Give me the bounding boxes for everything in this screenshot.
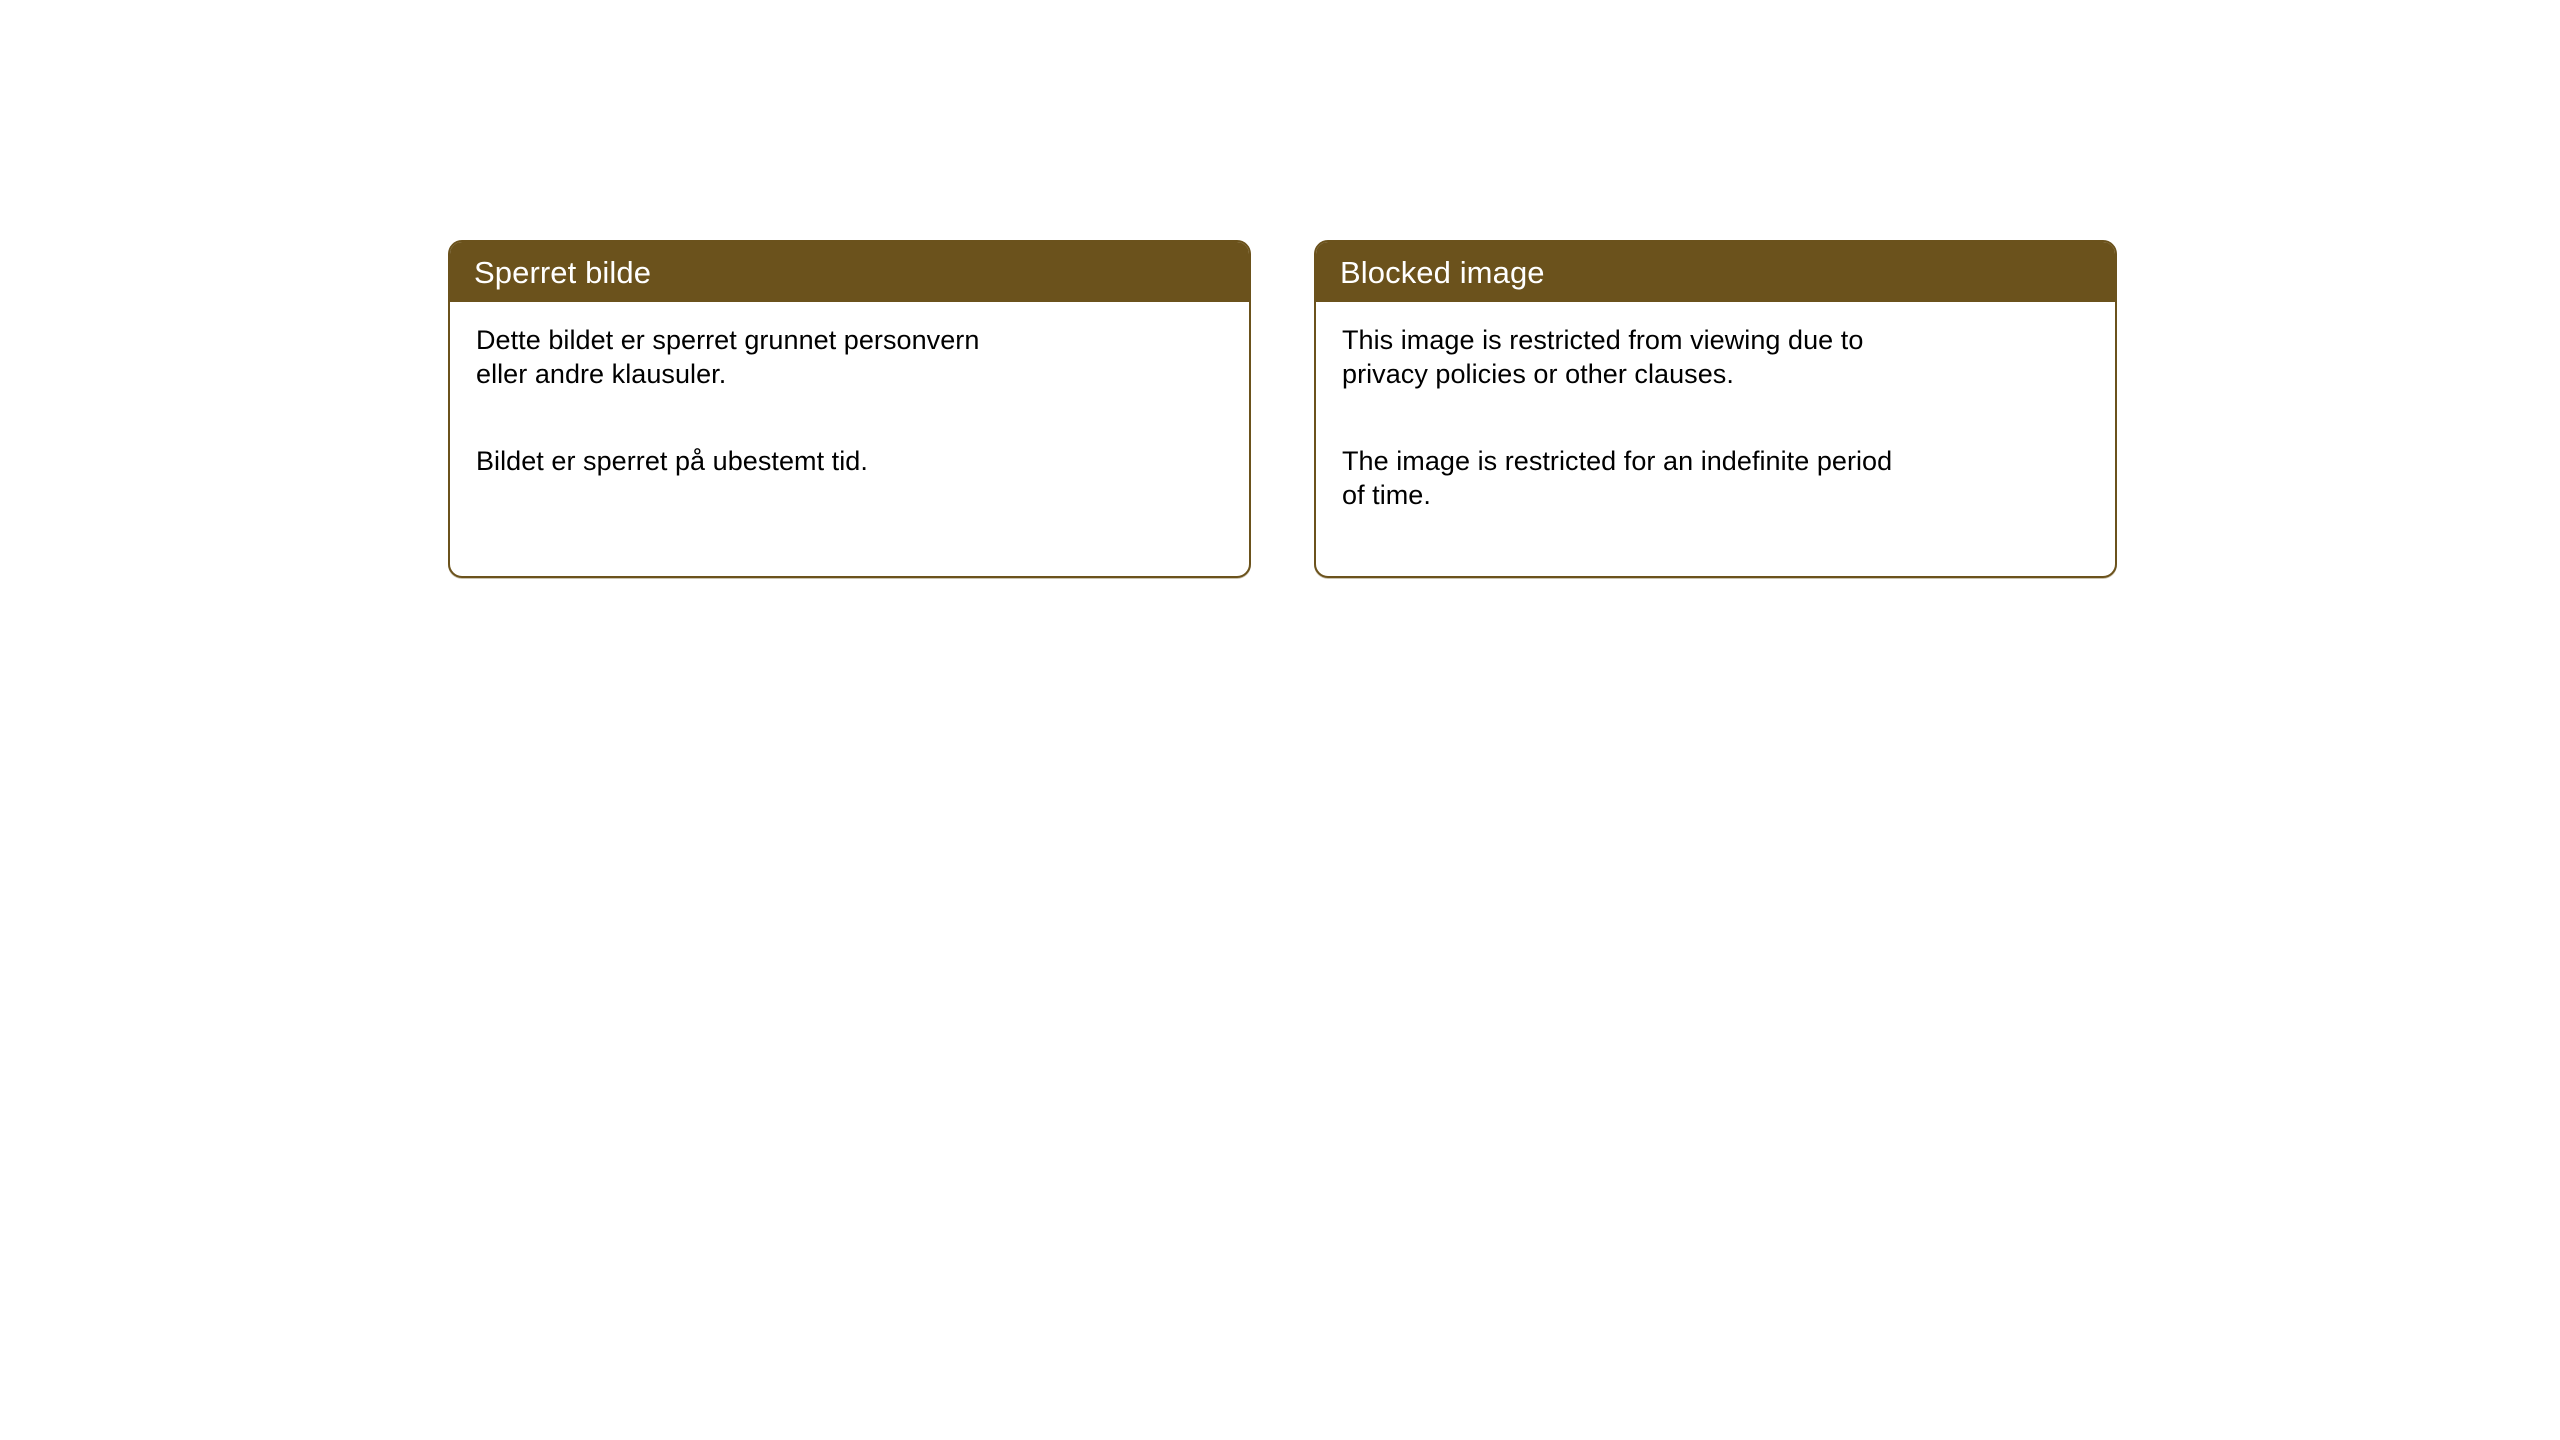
panel-paragraph-line: Dette bildet er sperret grunnet personve…	[476, 323, 1223, 357]
panel-paragraph-line: of time.	[1342, 478, 2089, 512]
panel-header-en: Blocked image	[1316, 242, 2115, 302]
panel-paragraph-line: eller andre klausuler.	[476, 357, 1223, 391]
panel-body-en: This image is restricted from viewing du…	[1316, 302, 2115, 576]
panel-title-no: Sperret bilde	[474, 257, 651, 288]
page-root: { "colors": { "header_background": "#6b5…	[0, 0, 2560, 1440]
panel-paragraph-no-1: Dette bildet er sperret grunnet personve…	[476, 323, 1223, 391]
panel-paragraph-en-1: This image is restricted from viewing du…	[1342, 323, 2089, 391]
panel-paragraph-line: The image is restricted for an indefinit…	[1342, 444, 2089, 478]
blocked-image-notice-group: Sperret bilde Dette bildet er sperret gr…	[448, 240, 2117, 578]
blocked-image-panel-en: Blocked image This image is restricted f…	[1314, 240, 2117, 578]
blocked-image-panel-no: Sperret bilde Dette bildet er sperret gr…	[448, 240, 1251, 578]
panel-paragraph-line: privacy policies or other clauses.	[1342, 357, 2089, 391]
panel-paragraph-en-2: The image is restricted for an indefinit…	[1342, 444, 2089, 512]
panel-header-no: Sperret bilde	[450, 242, 1249, 302]
panel-paragraph-no-2: Bildet er sperret på ubestemt tid.	[476, 444, 1223, 478]
panel-paragraph-line: This image is restricted from viewing du…	[1342, 323, 2089, 357]
panel-title-en: Blocked image	[1340, 257, 1545, 288]
panel-body-no: Dette bildet er sperret grunnet personve…	[450, 302, 1249, 576]
panel-paragraph-line: Bildet er sperret på ubestemt tid.	[476, 444, 1223, 478]
